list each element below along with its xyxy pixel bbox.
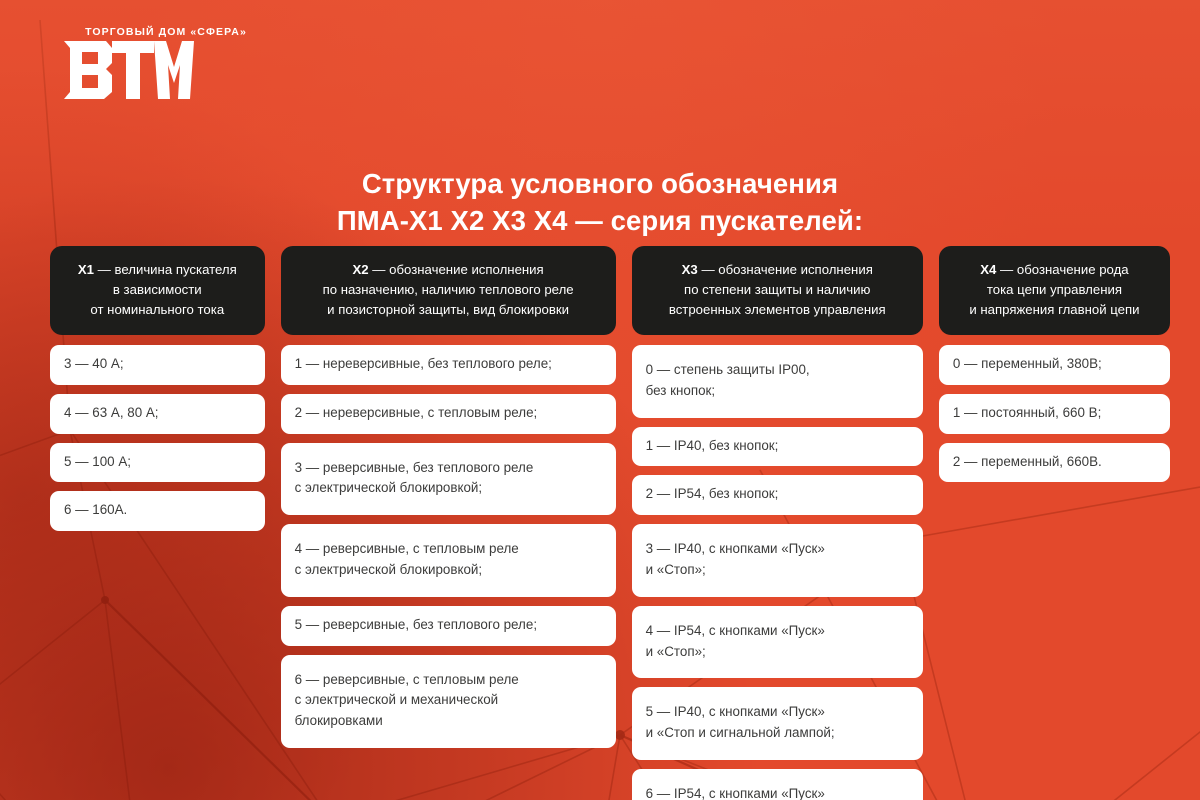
column-header-x4-line-2: тока цепи управления [949, 280, 1160, 300]
cell-line: и «Стоп и сигнальной лампой; [646, 723, 909, 744]
column-header-x1: X1 — величина пускателя в зависимости от… [50, 246, 265, 335]
cell-line: 5 — IP40, с кнопками «Пуск» [646, 702, 909, 723]
column-x1: X1 — величина пускателя в зависимости от… [50, 246, 265, 540]
cell-line: 4 — 63 А, 80 А; [64, 403, 251, 424]
page-title: Структура условного обозначения ПМА-X1 X… [0, 166, 1200, 240]
column-header-x2: X2 — обозначение исполнения по назначени… [281, 246, 616, 335]
list-item: 6 — 160А. [50, 491, 265, 531]
column-header-x3-line-3: встроенных элементов управления [642, 300, 913, 320]
list-item: 2 — переменный, 660В. [939, 443, 1170, 483]
column-code: X2 [352, 262, 368, 277]
list-item: 4 — 63 А, 80 А; [50, 394, 265, 434]
list-item: 4 — IP54, с кнопками «Пуск» и «Стоп»; [632, 606, 923, 679]
column-x4: X4 — обозначение рода тока цепи управлен… [939, 246, 1170, 491]
list-item: 2 — IP54, без кнопок; [632, 475, 923, 515]
column-x2: X2 — обозначение исполнения по назначени… [281, 246, 616, 757]
cell-line: 6 — IP54, с кнопками «Пуск» [646, 784, 909, 800]
column-header-x4-line-3: и напряжения главной цепи [949, 300, 1160, 320]
cell-line: 1 — постоянный, 660 В; [953, 403, 1156, 424]
cell-line: 5 — 100 А; [64, 452, 251, 473]
cell-line: блокировками [295, 711, 602, 732]
list-item: 5 — IP40, с кнопками «Пуск» и «Стоп и си… [632, 687, 923, 760]
cell-line: 1 — нереверсивные, без теплового реле; [295, 354, 602, 375]
list-item: 1 — IP40, без кнопок; [632, 427, 923, 467]
list-item: 2 — нереверсивные, с тепловым реле; [281, 394, 616, 434]
cell-line: и «Стоп»; [646, 642, 909, 663]
cell-line: 2 — переменный, 660В. [953, 452, 1156, 473]
list-item: 5 — реверсивные, без теплового реле; [281, 606, 616, 646]
cell-line: 3 — реверсивные, без теплового реле [295, 458, 602, 479]
cell-line: 6 — 160А. [64, 500, 251, 521]
page-title-line-2: ПМА-X1 X2 X3 X4 — серия пускателей: [0, 203, 1200, 240]
cell-line: 2 — IP54, без кнопок; [646, 484, 909, 505]
cell-line: 5 — реверсивные, без теплового реле; [295, 615, 602, 636]
cell-line: 0 — переменный, 380В; [953, 354, 1156, 375]
cell-line: 1 — IP40, без кнопок; [646, 436, 909, 457]
list-item: 6 — IP54, с кнопками «Пуск» и «Стоп» и с… [632, 769, 923, 800]
list-item: 3 — 40 А; [50, 345, 265, 385]
list-item: 0 — переменный, 380В; [939, 345, 1170, 385]
cell-line: 3 — 40 А; [64, 354, 251, 375]
infographic-poster: ТОРГОВЫЙ ДОМ «СФЕРА» ВТМ Структура услов… [0, 0, 1200, 800]
column-header-x4: X4 — обозначение рода тока цепи управлен… [939, 246, 1170, 335]
cell-line: и «Стоп»; [646, 560, 909, 581]
column-header-x3-line-1: X3 — обозначение исполнения [642, 260, 913, 280]
column-x3: X3 — обозначение исполнения по степени з… [632, 246, 923, 800]
list-item: 6 — реверсивные, с тепловым реле с элект… [281, 655, 616, 748]
column-header-x2-line-3: и позисторной защиты, вид блокировки [291, 300, 606, 320]
cell-line: 2 — нереверсивные, с тепловым реле; [295, 403, 602, 424]
cell-line: 4 — реверсивные, с тепловым реле [295, 539, 602, 560]
cell-line: 3 — IP40, с кнопками «Пуск» [646, 539, 909, 560]
column-header-x1-line-3: от номинального тока [60, 300, 255, 320]
column-code: X3 [682, 262, 698, 277]
list-item: 3 — IP40, с кнопками «Пуск» и «Стоп»; [632, 524, 923, 597]
column-header-x2-line-2: по назначению, наличию теплового реле [291, 280, 606, 300]
list-item: 3 — реверсивные, без теплового реле с эл… [281, 443, 616, 516]
column-header-x4-line-1: X4 — обозначение рода [949, 260, 1160, 280]
list-item: 5 — 100 А; [50, 443, 265, 483]
cell-line: с электрической блокировкой; [295, 560, 602, 581]
cell-line: без кнопок; [646, 381, 909, 402]
column-header-x3: X3 — обозначение исполнения по степени з… [632, 246, 923, 335]
column-header-x1-line-2: в зависимости [60, 280, 255, 300]
company-logo: ТОРГОВЫЙ ДОМ «СФЕРА» ВТМ [56, 26, 266, 101]
page-title-line-1: Структура условного обозначения [0, 166, 1200, 203]
cell-line: с электрической блокировкой; [295, 478, 602, 499]
list-item: 0 — степень защиты IP00, без кнопок; [632, 345, 923, 418]
designation-structure-table: X1 — величина пускателя в зависимости от… [50, 246, 1170, 800]
cell-line: 0 — степень защиты IP00, [646, 360, 909, 381]
column-code: X1 [78, 262, 94, 277]
list-item: 1 — постоянный, 660 В; [939, 394, 1170, 434]
cell-line: 4 — IP54, с кнопками «Пуск» [646, 621, 909, 642]
logo-tagline: ТОРГОВЫЙ ДОМ «СФЕРА» [66, 26, 266, 38]
logo-vtm-wordmark: ВТМ [62, 39, 194, 101]
column-code: X4 [980, 262, 996, 277]
column-header-x1-line-1: X1 — величина пускателя [60, 260, 255, 280]
cell-line: 6 — реверсивные, с тепловым реле [295, 670, 602, 691]
column-header-x3-line-2: по степени защиты и наличию [642, 280, 913, 300]
list-item: 4 — реверсивные, с тепловым реле с элект… [281, 524, 616, 597]
cell-line: с электрической и механической [295, 690, 602, 711]
column-header-x2-line-1: X2 — обозначение исполнения [291, 260, 606, 280]
list-item: 1 — нереверсивные, без теплового реле; [281, 345, 616, 385]
